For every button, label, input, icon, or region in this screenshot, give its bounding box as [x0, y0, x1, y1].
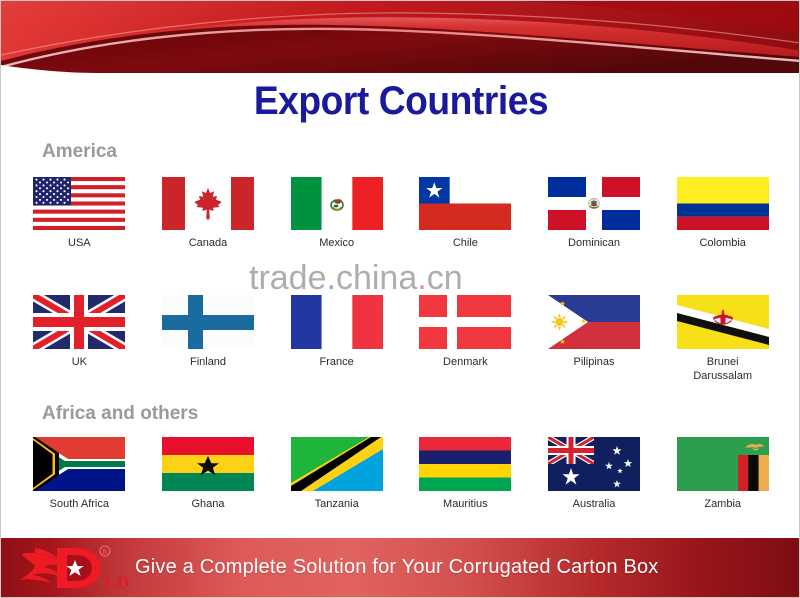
watermark-label: trade.china.cn: [249, 259, 463, 297]
footer-tagline: Give a Complete Solution for Your Corrug…: [135, 556, 659, 579]
flag-caption: Tanzania: [315, 498, 359, 512]
flag-item: South Africa: [15, 437, 144, 512]
header-wave-banner: [1, 1, 800, 73]
flag-caption: Brunei Darussalam: [693, 356, 752, 384]
flag-caption: Pilipinas: [574, 356, 615, 370]
flag-canada-icon: [162, 177, 254, 230]
flag-caption: Australia: [573, 498, 616, 512]
svg-text:R: R: [103, 548, 108, 556]
svg-text:LD: LD: [105, 573, 130, 592]
flag-row-europe-asia: UK Finland France: [15, 295, 787, 384]
flag-chile-icon: [419, 177, 511, 230]
flag-caption: Finland: [190, 356, 226, 370]
flag-row-africa-others: South Africa Ghana: [15, 437, 787, 512]
flag-zambia-icon: [677, 437, 769, 491]
flag-ghana-icon: [162, 437, 254, 491]
flag-caption: Colombia: [699, 237, 745, 251]
flag-mauritius-icon: [419, 437, 511, 491]
flag-caption: Dominican: [568, 237, 620, 251]
flag-item: Finland: [144, 295, 273, 384]
flag-caption: South Africa: [50, 498, 109, 512]
flag-caption: Denmark: [443, 356, 488, 370]
footer-bar: R LD Give a Complete Solution for Your C…: [1, 538, 800, 597]
flag-item: Chile: [401, 177, 530, 251]
flag-caption: USA: [68, 237, 91, 251]
flag-item: UK: [15, 295, 144, 384]
flag-united-kingdom-icon: [33, 295, 125, 349]
flag-dominican-republic-icon: [548, 177, 640, 230]
flag-australia-icon: [548, 437, 640, 491]
flag-item: Tanzania: [272, 437, 401, 512]
flag-item: Australia: [530, 437, 659, 512]
flag-france-icon: [291, 295, 383, 349]
ld-wing-d-logo-icon[interactable]: R LD: [13, 540, 135, 596]
flag-item: Dominican: [530, 177, 659, 251]
flag-denmark-icon: [419, 295, 511, 349]
flag-item: Zambia: [658, 437, 787, 512]
flag-mexico-icon: [291, 177, 383, 230]
flag-item: Colombia: [658, 177, 787, 251]
flag-caption: Zambia: [704, 498, 741, 512]
flag-item: Canada: [144, 177, 273, 251]
section-heading-africa: Africa and others: [42, 403, 198, 425]
flag-item: Ghana: [144, 437, 273, 512]
flag-caption: Mauritius: [443, 498, 488, 512]
section-heading-america: America: [42, 141, 117, 163]
flag-colombia-icon: [677, 177, 769, 230]
flag-caption: UK: [72, 356, 87, 370]
slide-canvas: Export Countries America: [0, 0, 800, 598]
header-wave-graphic: [1, 1, 800, 73]
flag-item: Mauritius: [401, 437, 530, 512]
flag-caption: France: [320, 356, 354, 370]
flag-item: Brunei Darussalam: [658, 295, 787, 384]
page-title: Export Countries: [29, 79, 773, 124]
flag-caption: Ghana: [191, 498, 224, 512]
flag-caption: Chile: [453, 237, 478, 251]
flag-row-america: USA Canada: [15, 177, 787, 251]
flag-item: Mexico: [272, 177, 401, 251]
flag-item: Pilipinas: [530, 295, 659, 384]
flag-item: USA: [15, 177, 144, 251]
flag-caption: Mexico: [319, 237, 354, 251]
flag-item: France: [272, 295, 401, 384]
flag-philippines-icon: [548, 295, 640, 349]
watermark-text: trade.china.cn: [249, 259, 463, 298]
flag-item: Denmark: [401, 295, 530, 384]
flag-south-africa-icon: [33, 437, 125, 491]
flag-tanzania-icon: [291, 437, 383, 491]
flag-usa-icon: [33, 177, 125, 230]
flag-brunei-icon: [677, 295, 769, 349]
flag-caption: Canada: [189, 237, 228, 251]
flag-finland-icon: [162, 295, 254, 349]
